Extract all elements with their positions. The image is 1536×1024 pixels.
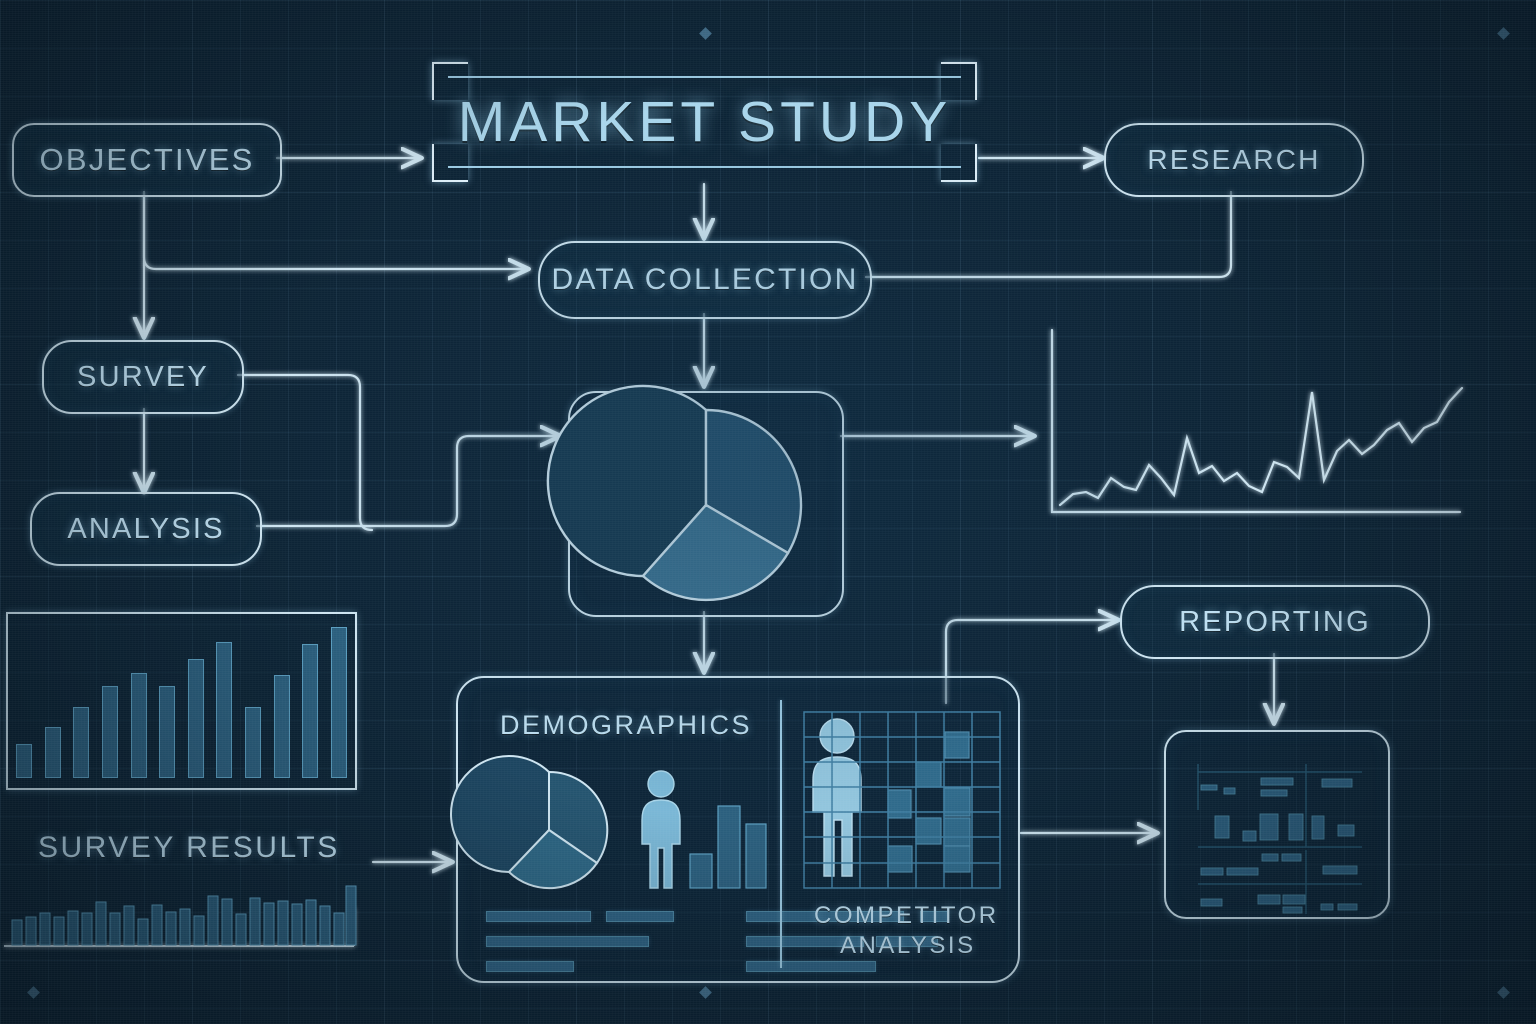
text-placeholder: [486, 936, 649, 947]
survey-results-bars: [12, 886, 356, 945]
title-block: MARKET STUDY: [432, 62, 977, 182]
connector-objectives-datacollection: [144, 192, 528, 269]
bar: [45, 727, 61, 778]
survey-results-title: SURVEY RESULTS: [38, 831, 340, 865]
text-placeholder: [486, 911, 591, 922]
left-bar-chart: [16, 624, 347, 778]
demographics-title: DEMOGRAPHICS: [500, 710, 752, 741]
demographics-bar-group: [690, 806, 766, 888]
center-pie-chart: [570, 393, 842, 615]
survey-results-chart: [2, 880, 364, 950]
report-document-panel: [1164, 730, 1390, 919]
node-objectives[interactable]: OBJECTIVES: [12, 123, 282, 197]
blueprint-canvas: MARKET STUDY OBJECTIVES RESEARCH DATA CO…: [0, 0, 1536, 1024]
text-placeholder: [746, 961, 876, 972]
demographics-person-and-bars: [634, 768, 764, 896]
competitor-person-icon: [813, 719, 861, 876]
bar: [331, 627, 347, 778]
trend-line-chart: [1048, 330, 1468, 530]
connector-research-datacollection: [866, 192, 1231, 277]
node-survey[interactable]: SURVEY: [42, 340, 244, 414]
person-icon: [642, 771, 680, 888]
text-placeholder: [486, 961, 574, 972]
bar: [159, 686, 175, 778]
left-bar-chart-frame: [6, 612, 357, 790]
node-reporting[interactable]: REPORTING: [1120, 585, 1430, 659]
node-data-collection-label: DATA COLLECTION: [552, 263, 859, 297]
bar: [102, 686, 118, 778]
competitor-grid-chart: [800, 708, 1008, 896]
report-document-content: [1166, 732, 1388, 917]
trend-axes: [1052, 330, 1460, 512]
center-pie-panel: [568, 391, 844, 617]
bar: [16, 744, 32, 778]
bar: [216, 642, 232, 778]
node-research-label: RESEARCH: [1147, 144, 1320, 176]
node-data-collection[interactable]: DATA COLLECTION: [538, 241, 872, 319]
demographics-pie-chart: [482, 768, 617, 893]
bar: [188, 659, 204, 778]
node-analysis[interactable]: ANALYSIS: [30, 492, 262, 566]
page-title: MARKET STUDY: [432, 62, 977, 182]
bar: [131, 673, 147, 778]
trend-series: [1060, 388, 1462, 505]
competitor-heat-cells: [888, 732, 970, 872]
node-analysis-label: ANALYSIS: [67, 513, 224, 546]
bar: [274, 675, 290, 778]
node-survey-label: SURVEY: [77, 361, 209, 394]
panel-divider: [780, 700, 782, 968]
text-placeholder: [606, 911, 674, 922]
bar: [73, 707, 89, 778]
demographics-competitor-panel: DEMOGRAPHICS: [456, 676, 1020, 983]
node-reporting-label: REPORTING: [1179, 606, 1371, 639]
node-objectives-label: OBJECTIVES: [40, 142, 255, 178]
bar: [245, 707, 261, 778]
competitor-analysis-title-line2: ANALYSIS: [840, 932, 976, 960]
node-research[interactable]: RESEARCH: [1104, 123, 1364, 197]
connector-analysis-pie: [257, 436, 560, 526]
report-content-blocks: [1201, 778, 1357, 913]
bar: [302, 644, 318, 778]
competitor-analysis-title-line1: COMPETITOR: [814, 902, 999, 930]
